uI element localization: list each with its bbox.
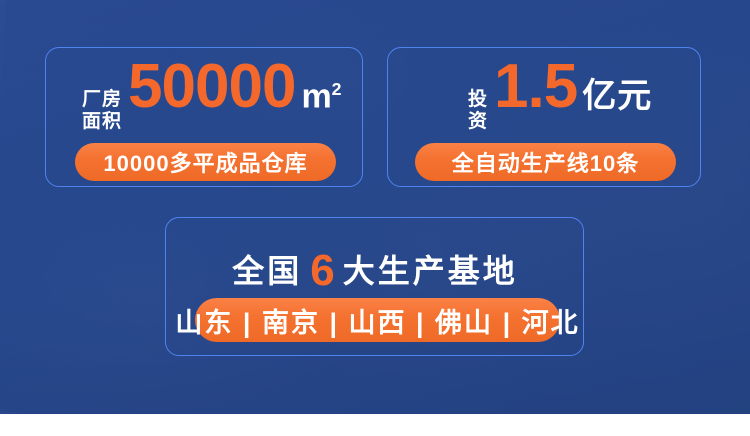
factory-headline: 厂房 面积 50000 m2 xyxy=(82,56,342,135)
investment-label-line1: 投 xyxy=(468,89,488,111)
pill-warehouse-label: 10000多平成品仓库 xyxy=(103,146,307,178)
bases-headline-suffix: 大生产基地 xyxy=(343,253,518,289)
investment-value: 1.5 xyxy=(494,56,577,118)
factory-area-unit-superscript: 2 xyxy=(332,79,342,99)
investment-label-line2: 资 xyxy=(468,111,488,133)
pill-city-list[interactable]: 山东 | 南京 | 山西 | 佛山 | 河北 xyxy=(195,298,560,342)
investment-unit: 亿元 xyxy=(582,79,652,113)
investment-headline: 投 资 1.5 亿元 xyxy=(468,56,652,135)
factory-area-label-line1: 厂房 xyxy=(82,89,122,111)
bases-headline-prefix: 全国 xyxy=(232,253,302,289)
factory-area-unit-base: m xyxy=(301,77,331,115)
investment-label: 投 资 xyxy=(468,89,488,133)
pill-production-line-label: 全自动生产线10条 xyxy=(452,146,639,178)
bases-headline: 全国6大生产基地 xyxy=(0,243,750,293)
promo-banner: 厂房 面积 50000 m2 10000多平成品仓库 投 资 1.5 亿元 全自… xyxy=(0,0,750,414)
factory-area-label: 厂房 面积 xyxy=(82,89,122,133)
factory-area-value: 50000 xyxy=(128,56,295,118)
pill-warehouse[interactable]: 10000多平成品仓库 xyxy=(75,143,336,181)
bases-count-value: 6 xyxy=(310,246,334,295)
pill-city-list-label: 山东 | 南京 | 山西 | 佛山 | 河北 xyxy=(175,301,579,340)
pill-production-line[interactable]: 全自动生产线10条 xyxy=(415,143,676,181)
factory-area-label-line2: 面积 xyxy=(82,111,122,133)
factory-area-unit: m2 xyxy=(301,72,341,113)
